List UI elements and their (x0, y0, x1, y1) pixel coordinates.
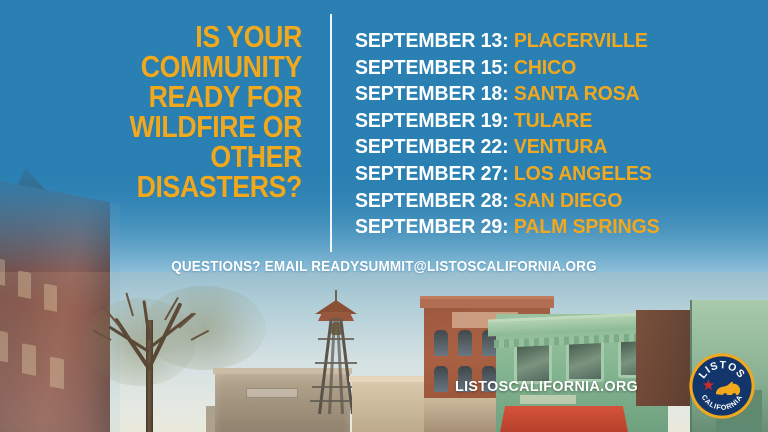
schedule-city: SANTA ROSA (514, 82, 640, 105)
schedule-city: TULARE (514, 109, 592, 132)
schedule-date: SEPTEMBER 28: (355, 189, 509, 212)
headline-line-1: IS YOUR (68, 22, 302, 52)
schedule-city: PALM SPRINGS (514, 215, 660, 238)
listos-california-logo: LISTOS CALIFORNIA (688, 352, 756, 420)
headline-line-4: WILDFIRE OR (68, 112, 302, 142)
contact-email-line: QUESTIONS? EMAIL READYSUMMIT@LISTOSCALIF… (27, 259, 741, 275)
schedule-row: SEPTEMBER 29: PALM SPRINGS (355, 214, 735, 241)
schedule-date: SEPTEMBER 27: (355, 162, 509, 185)
schedule-row: SEPTEMBER 27: LOS ANGELES (355, 161, 735, 188)
headline-line-2: COMMUNITY (68, 52, 302, 82)
event-schedule-list: SEPTEMBER 13: PLACERVILLE SEPTEMBER 15: … (355, 28, 755, 241)
schedule-row: SEPTEMBER 28: SAN DIEGO (355, 188, 735, 215)
schedule-row: SEPTEMBER 13: PLACERVILLE (355, 28, 735, 55)
schedule-date: SEPTEMBER 18: (355, 82, 509, 105)
schedule-date: SEPTEMBER 29: (355, 215, 509, 238)
headline-line-3: READY FOR (68, 82, 302, 112)
schedule-city: SAN DIEGO (514, 189, 622, 212)
headline-line-6: DISASTERS? (68, 172, 302, 202)
schedule-row: SEPTEMBER 22: VENTURA (355, 134, 735, 161)
website-url: LISTOSCALIFORNIA.ORG (455, 378, 638, 395)
schedule-city: LOS ANGELES (514, 162, 652, 185)
schedule-date: SEPTEMBER 15: (355, 56, 509, 79)
headline-line-5: OTHER (68, 142, 302, 172)
page-title: IS YOUR COMMUNITY READY FOR WILDFIRE OR … (68, 22, 302, 202)
schedule-date: SEPTEMBER 13: (355, 29, 509, 52)
schedule-city: CHICO (514, 56, 576, 79)
schedule-row: SEPTEMBER 15: CHICO (355, 55, 735, 82)
schedule-city: VENTURA (514, 135, 607, 158)
schedule-row: SEPTEMBER 19: TULARE (355, 108, 735, 135)
event-poster: IS YOUR COMMUNITY READY FOR WILDFIRE OR … (0, 0, 768, 432)
vertical-divider (330, 14, 332, 252)
schedule-date: SEPTEMBER 22: (355, 135, 509, 158)
schedule-row: SEPTEMBER 18: SANTA ROSA (355, 81, 735, 108)
schedule-date: SEPTEMBER 19: (355, 109, 509, 132)
poster-content: IS YOUR COMMUNITY READY FOR WILDFIRE OR … (0, 0, 768, 432)
schedule-city: PLACERVILLE (514, 29, 648, 52)
